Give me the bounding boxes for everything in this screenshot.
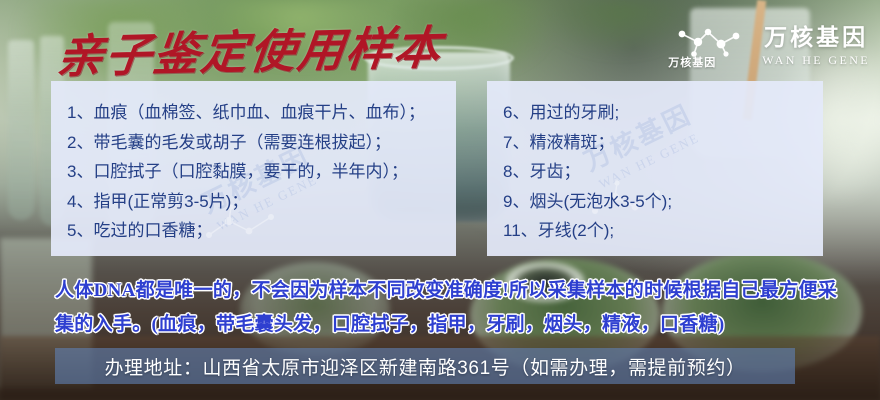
brand-name-en: WAN HE GENE	[762, 53, 870, 68]
poster-canvas: 亲子鉴定使用样本	[0, 0, 880, 400]
description-paragraph: 人体DNA都是唯一的，不会因为样本不同改变准确度!所以采集样本的时候根据自己最方…	[55, 274, 845, 342]
brand-mark-caption: 万核基因	[668, 54, 716, 70]
address-text: 办理地址：山西省太原市迎泽区新建南路361号（如需办理，需提前预约）	[104, 353, 745, 380]
list-item: 2、带毛囊的毛发或胡子（需要连根拔起）；	[67, 128, 456, 158]
list-item: 11、牙线(2个);	[503, 216, 823, 246]
brand-wordmark: 万核基因 WAN HE GENE	[762, 18, 870, 68]
brand-logo: 万核基因 万核基因 WAN HE GENE	[674, 18, 870, 68]
list-item: 1、血痕（血棉签、纸巾血、血痕干片、血布）；	[67, 98, 456, 128]
sample-list-panel-left: 万核基因 WAN HE GENE 1、血痕（血棉签、纸巾血、血痕干片、血布）； …	[51, 81, 456, 256]
list-item: 4、指甲(正常剪3-5片)；	[67, 187, 456, 217]
list-item: 8、牙齿；	[503, 157, 823, 187]
sample-list-panel-right: 万核基因 WAN HE GENE 6、用过的牙刷; 7、精液精斑； 8、牙齿； …	[487, 81, 823, 256]
list-item: 3、口腔拭子（口腔黏膜，要干的，半年内）；	[67, 157, 456, 187]
sample-list-left: 1、血痕（血棉签、纸巾血、血痕干片、血布）； 2、带毛囊的毛发或胡子（需要连根拔…	[51, 81, 456, 246]
molecule-icon: 万核基因	[674, 25, 748, 61]
background-test-tube-1	[8, 40, 34, 220]
list-item: 6、用过的牙刷;	[503, 98, 823, 128]
address-banner: 办理地址：山西省太原市迎泽区新建南路361号（如需办理，需提前预约）	[55, 348, 795, 384]
brand-name-cn: 万核基因	[764, 18, 868, 52]
list-item: 7、精液精斑；	[503, 128, 823, 158]
sample-list-right: 6、用过的牙刷; 7、精液精斑； 8、牙齿； 9、烟头(无泡水3-5个); 11…	[487, 81, 823, 246]
list-item: 9、烟头(无泡水3-5个);	[503, 187, 823, 217]
list-item: 5、吃过的口香糖；	[67, 216, 456, 246]
page-title: 亲子鉴定使用样本	[54, 11, 447, 86]
